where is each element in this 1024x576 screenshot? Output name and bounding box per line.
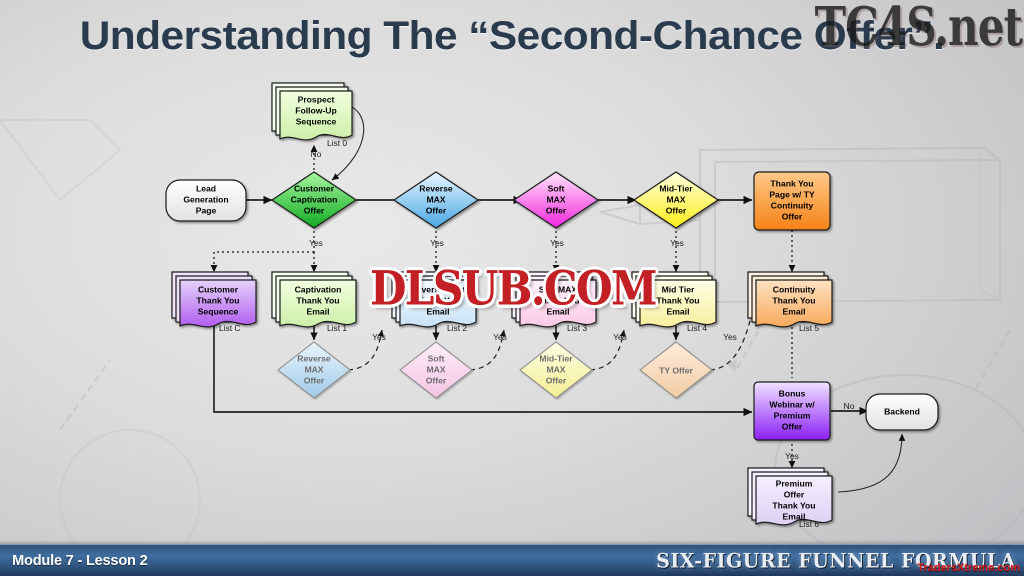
node-bonus-webinar-premium-offer[interactable] (754, 382, 830, 440)
node-soft-max-offer-ghost[interactable] (400, 342, 472, 398)
node-lead-generation-page[interactable] (166, 180, 246, 221)
label-list5: List 5 (799, 323, 819, 333)
watermark-tradersxtreme: TradersXtreme.com (917, 562, 1020, 574)
node-reverse-max-offer-ghost[interactable] (278, 342, 350, 398)
node-ty-offer-ghost[interactable] (640, 342, 712, 398)
edge-premium-backend (838, 434, 902, 492)
label-no-top: No (311, 149, 322, 159)
label-yes-midtier-low: Yes (613, 332, 627, 342)
node-captivation-thank-you-email[interactable] (272, 272, 356, 327)
watermark-dlsub-fill: DLSUB.COM (370, 261, 656, 316)
footer-bar: Module 7 - Lesson 2 SIX-FIGURE FUNNEL FO… (0, 544, 1024, 576)
label-yes-soft-low: Yes (493, 332, 507, 342)
label-yes-premium: Yes (785, 451, 799, 461)
label-yes-soft: Yes (550, 238, 564, 248)
label-list0: List 0 (327, 138, 347, 148)
footer-module-label: Module 7 - Lesson 2 (12, 552, 147, 569)
label-listC: List C (219, 323, 240, 333)
label-yes-reverse-low: Yes (372, 332, 386, 342)
label-yes-midtier: Yes (670, 238, 684, 248)
label-yes-captivation: Yes (309, 238, 323, 248)
node-thank-you-page-continuity[interactable] (754, 172, 830, 230)
node-mid-tier-max-offer-ghost[interactable] (520, 342, 592, 398)
node-customer-captivation-offer[interactable] (272, 172, 356, 228)
slide-canvas: Understanding The “Second-Chance Offer”.… (0, 0, 1024, 576)
node-continuity-thank-you-email[interactable] (748, 272, 832, 327)
node-reverse-max-offer[interactable] (394, 172, 478, 228)
node-customer-thank-you-sequence[interactable] (172, 272, 256, 327)
node-soft-max-offer[interactable] (514, 172, 598, 228)
label-yes-reverse: Yes (430, 238, 444, 248)
node-mid-tier-max-offer[interactable] (634, 172, 718, 228)
label-yes-ty-low: Yes (723, 332, 737, 342)
node-prospect-follow-up-sequence[interactable] (272, 83, 352, 140)
node-backend[interactable] (866, 394, 938, 430)
edge-to-customer-ty-seq (214, 252, 314, 272)
label-no-backend: No (844, 401, 855, 411)
node-premium-offer-thank-you-email[interactable] (748, 468, 832, 525)
